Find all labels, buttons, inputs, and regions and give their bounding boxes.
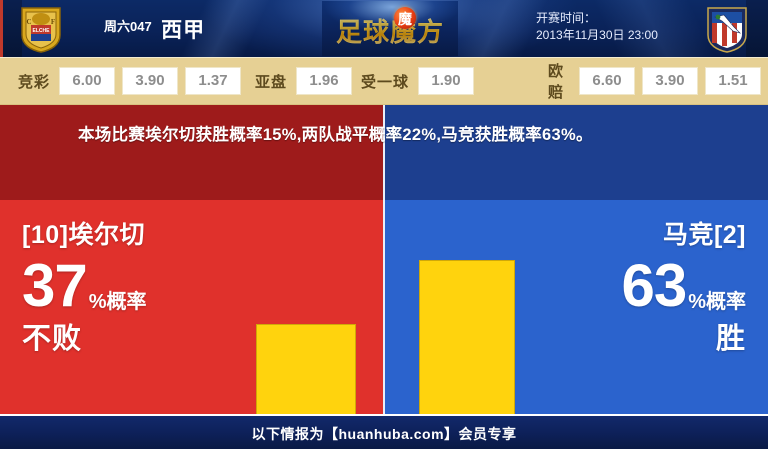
elche-cf-crest-icon: ELCHE C F	[18, 5, 64, 53]
kickoff-info: 开赛时间： 2013年11月30日 23:00	[536, 10, 658, 44]
league-name: 西甲	[161, 19, 205, 42]
kickoff-label: 开赛时间：	[536, 10, 658, 27]
league-info: 周六047 西甲	[104, 14, 205, 44]
home-summary-band	[0, 105, 384, 200]
odds-label-asian: 亚盘	[255, 71, 287, 92]
logo-badge-icon: 魔	[394, 7, 416, 29]
away-probability-bar	[419, 260, 515, 418]
odds-label-europe: 欧赔	[548, 60, 570, 102]
probability-panel: 本场比赛埃尔切获胜概率15%,两队战平概率22%,马竞获胜概率63%。 [10]…	[0, 105, 768, 418]
odds-asian-home[interactable]: 1.96	[296, 67, 352, 95]
odds-bar: 竞彩 6.00 3.90 1.37 亚盘 1.96 受一球 1.90 欧赔 6.…	[0, 57, 768, 105]
odds-jingcai-away[interactable]: 1.37	[185, 67, 241, 95]
odds-europe-away[interactable]: 1.51	[705, 67, 761, 95]
odds-asian-away[interactable]: 1.90	[418, 67, 474, 95]
odds-europe-home[interactable]: 6.60	[579, 67, 635, 95]
away-percent-row: 63%概率	[621, 256, 746, 316]
site-logo[interactable]: 足球魔方 魔	[322, 1, 458, 56]
odds-label-jingcai: 竞彩	[18, 71, 50, 92]
home-percent-value: 37	[22, 252, 87, 319]
summary-text: 本场比赛埃尔切获胜概率15%,两队战平概率22%,马竞获胜概率63%。	[78, 122, 698, 149]
home-percent-row: 37%概率	[22, 256, 147, 316]
odds-europe-draw[interactable]: 3.90	[642, 67, 698, 95]
odds-jingcai-home[interactable]: 6.00	[59, 67, 115, 95]
kickoff-value: 2013年11月30日 23:00	[536, 27, 658, 44]
home-team-name: [10]埃尔切	[22, 220, 147, 250]
site-logo-text: 足球魔方	[322, 12, 458, 49]
footer-bar: 以下情报为【huanhuba.com】会员专享	[0, 414, 768, 449]
match-probability-infographic: ELCHE C F 周六047 西甲 足球魔方 魔 开赛时间： 2013年11月…	[0, 0, 768, 449]
away-percent-value: 63	[621, 252, 686, 319]
footer-text: 以下情报为【huanhuba.com】会员专享	[0, 424, 768, 444]
odds-jingcai-draw[interactable]: 3.90	[122, 67, 178, 95]
header-accent-line	[0, 0, 3, 57]
away-summary-band	[384, 105, 768, 200]
home-outcome-label: 不败	[22, 322, 147, 356]
svg-text:ELCHE: ELCHE	[33, 28, 51, 34]
odds-group-asian: 亚盘 1.96 受一球 1.90	[255, 58, 481, 104]
away-outcome-label: 胜	[621, 322, 746, 356]
away-team-name: 马竞[2]	[621, 220, 746, 250]
logo-badge-char: 魔	[394, 9, 416, 29]
home-probability-bar	[256, 324, 356, 418]
atletico-madrid-crest-icon	[704, 5, 750, 53]
away-percent-suffix: %概率	[688, 291, 746, 313]
round-number: 周六047	[104, 19, 152, 34]
panel-divider	[383, 105, 385, 418]
odds-asian-handicap: 受一球	[361, 71, 409, 92]
svg-text:F: F	[51, 18, 55, 26]
odds-group-europe: 欧赔 6.60 3.90 1.51	[548, 58, 768, 104]
svg-text:C: C	[26, 18, 31, 26]
away-team-stats: 马竞[2] 63%概率 胜	[621, 220, 746, 356]
home-team-stats: [10]埃尔切 37%概率 不败	[22, 220, 147, 356]
match-header: ELCHE C F 周六047 西甲 足球魔方 魔 开赛时间： 2013年11月…	[0, 0, 768, 57]
odds-group-jingcai: 竞彩 6.00 3.90 1.37	[18, 58, 248, 104]
home-percent-suffix: %概率	[89, 291, 147, 313]
